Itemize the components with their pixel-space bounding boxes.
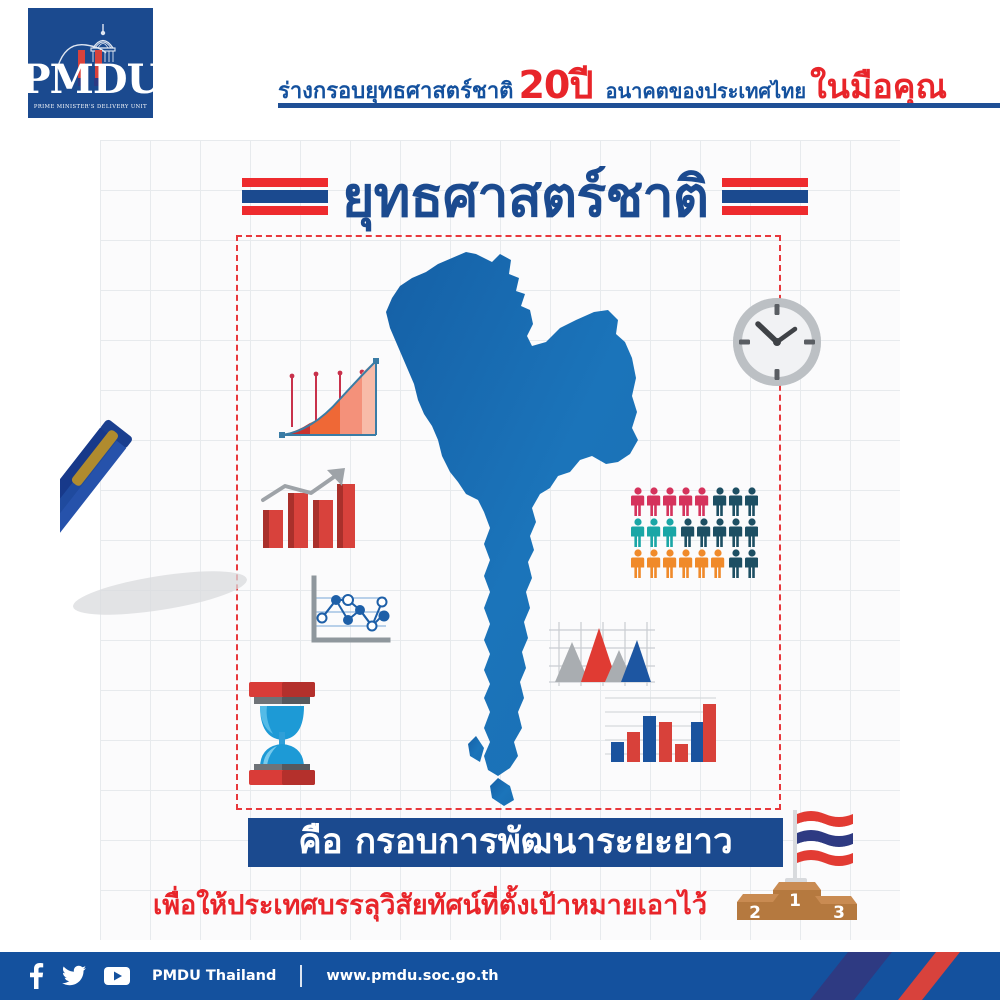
footer-divider <box>300 965 302 987</box>
logo-letters: PMDU <box>21 60 161 100</box>
page-header: PMDU PRIME MINISTER'S DELIVERY UNIT ร่าง… <box>0 0 1000 140</box>
caption-band: คือ กรอบการพัฒนาระยะยาว <box>248 818 783 867</box>
footer-stripes <box>810 952 1000 1000</box>
caption-subtext: เพื่อให้ประเทศบรรลุวิสัยทัศน์ที่ตั้งเป้า… <box>110 884 750 924</box>
header-divider-rule <box>278 103 1000 108</box>
logo-subtitle: PRIME MINISTER'S DELIVERY UNIT <box>34 104 147 110</box>
hourglass-icon <box>243 676 321 795</box>
youtube-icon[interactable] <box>104 966 130 986</box>
caption-sub-text: เพื่อให้ประเทศบรรลุวิสัยทัศน์ที่ตั้งเป้า… <box>153 883 707 926</box>
caption-band-text: คือ กรอบการพัฒนาระยะยาว <box>298 825 732 860</box>
chart-area-growth <box>270 355 385 464</box>
thai-flag-bars-right <box>722 178 808 218</box>
page-title: ยุทธศาสตร์ชาติ <box>342 170 708 226</box>
podium-place-3: 3 <box>833 903 845 920</box>
chart-blue-red-bars <box>603 690 718 772</box>
blue-pen-icon <box>60 415 255 634</box>
population-pictogram <box>628 487 758 586</box>
podium-place-1: 1 <box>789 891 801 911</box>
wall-clock-icon <box>727 292 827 396</box>
footer-website[interactable]: www.pmdu.soc.go.th <box>326 968 498 984</box>
chart-red-bars <box>255 460 355 559</box>
main-title-row: ยุทธศาสตร์ชาติ <box>175 162 875 234</box>
winners-podium-icon: 1 2 3 <box>735 808 860 920</box>
page-footer: PMDU Thailand www.pmdu.soc.go.th <box>0 952 1000 1000</box>
twitter-icon[interactable] <box>62 965 86 987</box>
thai-flag-bars-left <box>242 178 328 218</box>
header-tagline: ร่างกรอบยุทธศาสตร์ชาติ 20ปี อนาคตของประเ… <box>278 54 978 98</box>
chart-mountain-triangles <box>547 620 657 692</box>
footer-account-name: PMDU Thailand <box>152 968 276 984</box>
podium-place-2: 2 <box>749 903 761 920</box>
facebook-icon[interactable] <box>28 963 44 989</box>
pmdu-logo[interactable]: PMDU PRIME MINISTER'S DELIVERY UNIT <box>28 8 153 118</box>
chart-scatter-network <box>298 572 393 656</box>
